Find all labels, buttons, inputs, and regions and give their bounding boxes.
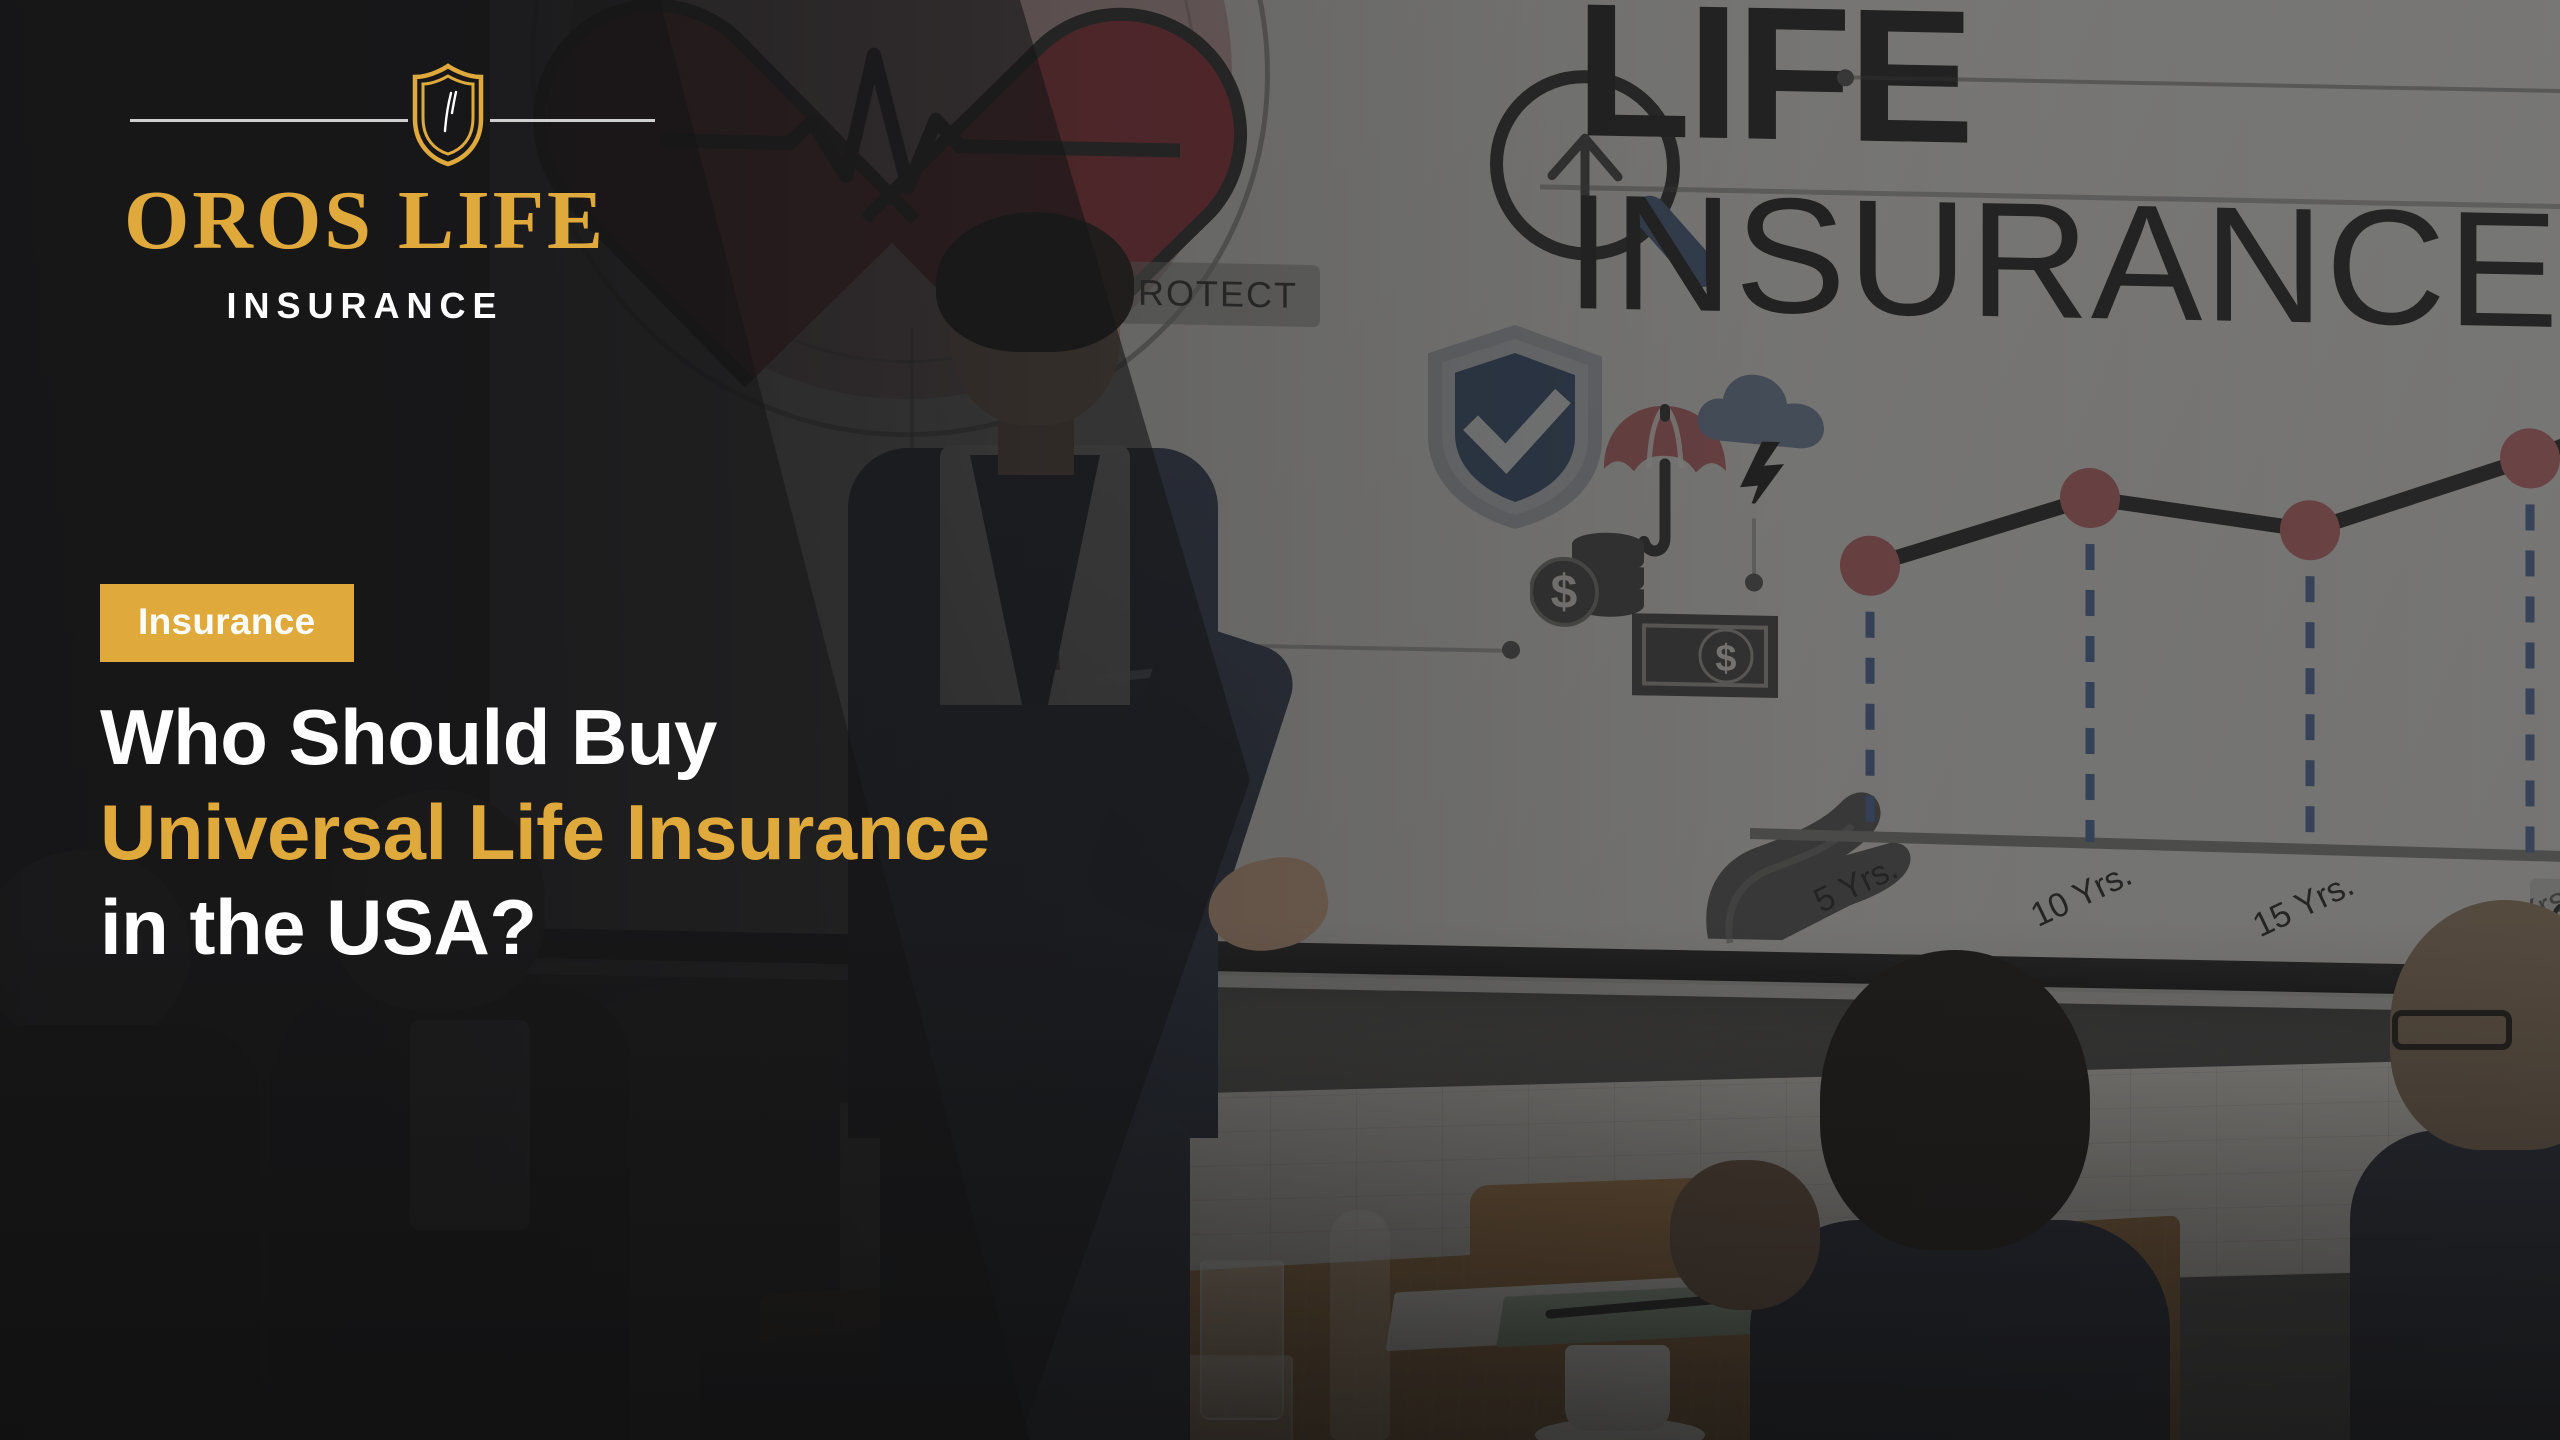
hero-banner: LIFE INSURANCE PROTECT	[0, 0, 2560, 1440]
brand-logo[interactable]: OROS LIFE INSURANCE	[100, 55, 630, 327]
shield-icon	[412, 63, 484, 167]
logo-rule-left	[130, 119, 408, 122]
logo-name: OROS LIFE	[100, 179, 630, 263]
category-badge-label: Insurance	[138, 601, 316, 642]
logo-mark	[100, 55, 630, 185]
category-badge[interactable]: Insurance	[100, 584, 354, 662]
headline-line-3: in the USA?	[100, 880, 1250, 975]
banner-content: OROS LIFE INSURANCE Insurance Who Should…	[0, 0, 2560, 1440]
headline-line-2: Universal Life Insurance	[100, 785, 1250, 880]
logo-subtitle: INSURANCE	[100, 285, 630, 327]
logo-rule-right	[490, 119, 655, 122]
page-title: Who Should Buy Universal Life Insurance …	[100, 690, 1250, 975]
headline-line-1: Who Should Buy	[100, 690, 1250, 785]
